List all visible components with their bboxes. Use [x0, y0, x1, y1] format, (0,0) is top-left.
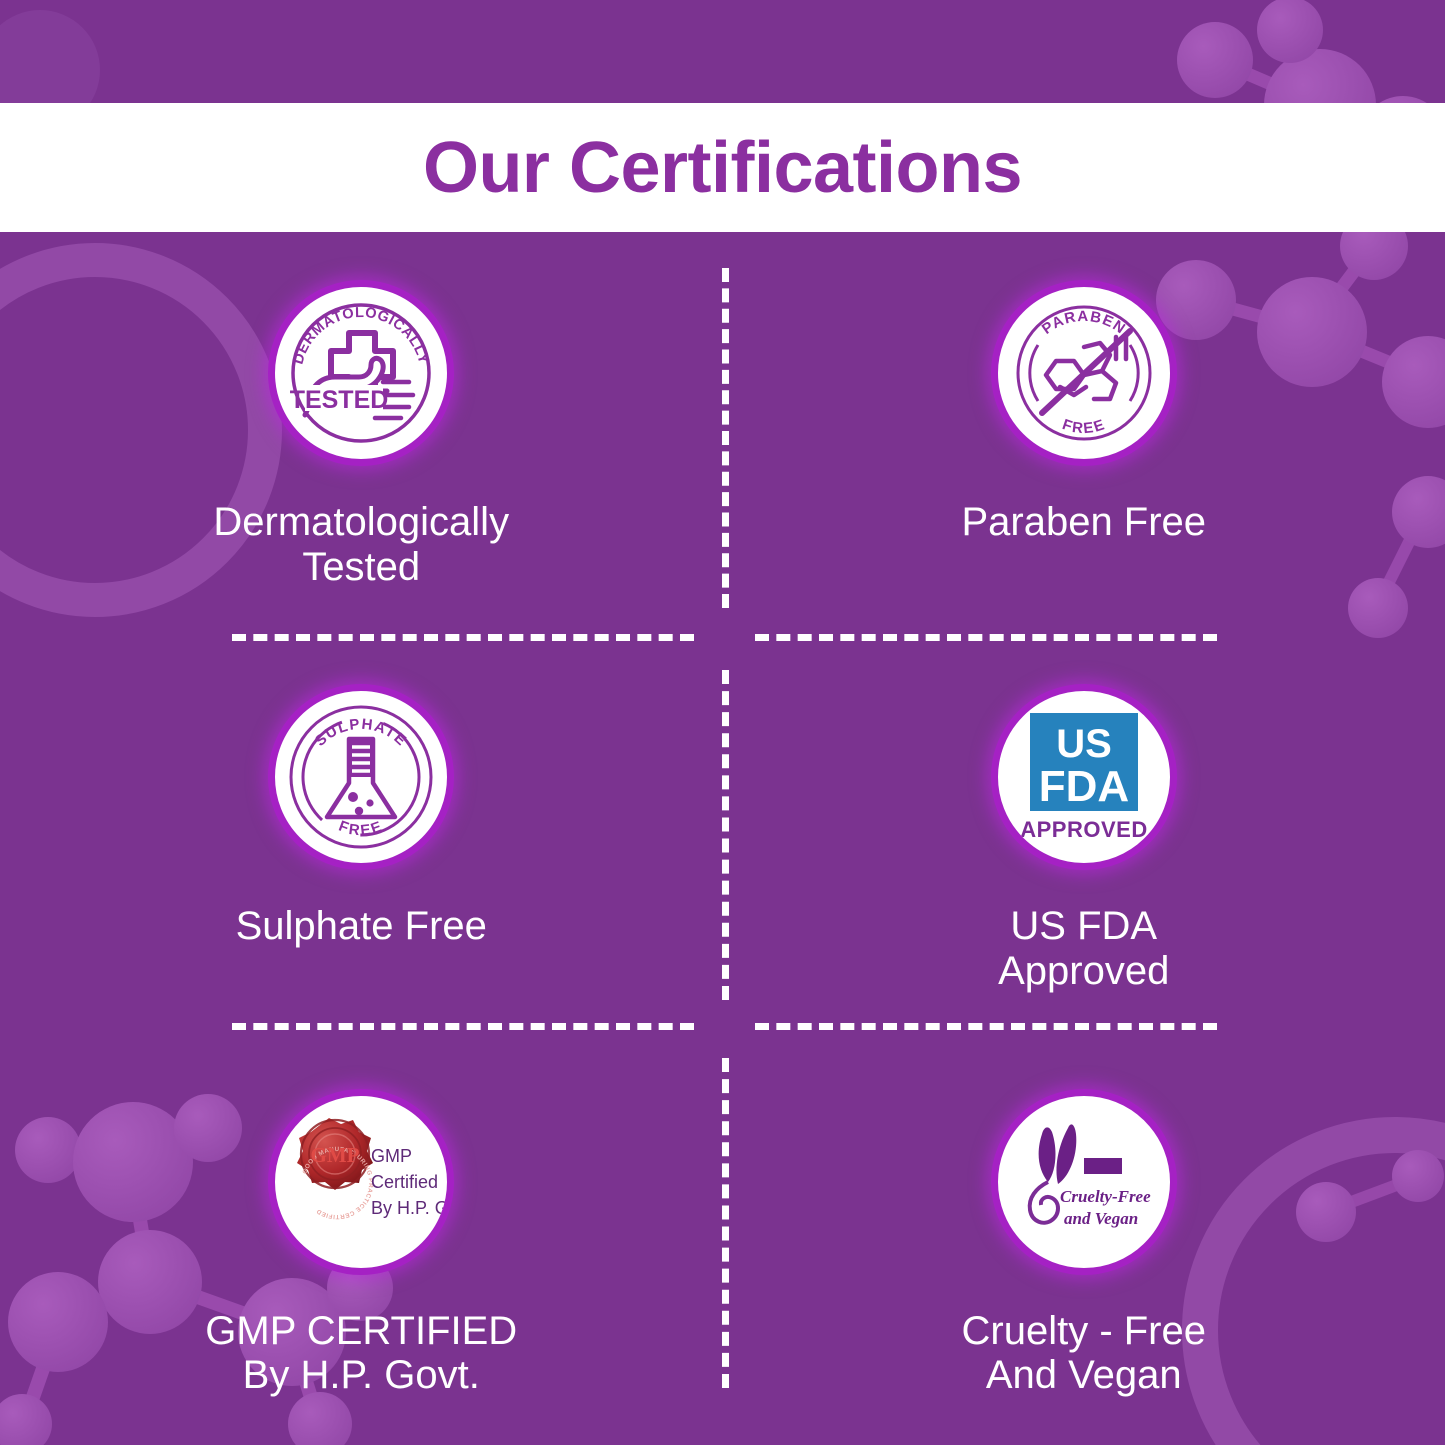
vertical-divider-row-1: [722, 268, 729, 608]
svg-text:APPROVED: APPROVED: [1020, 817, 1147, 842]
svg-text:GMP: GMP: [311, 1143, 360, 1167]
us-fda-approved-icon: US FDA APPROVED: [998, 691, 1170, 863]
dermatologically-tested-badge: DERMATOLOGICALLY TESTED: [268, 280, 454, 466]
certification-card-gmp-certified[interactable]: GOOD MANUFACTURING PRACTICE CERTIFIED GM…: [0, 1041, 723, 1445]
certification-label: Sulphate Free: [236, 904, 487, 949]
gmp-certified-badge: GOOD MANUFACTURING PRACTICE CERTIFIED GM…: [268, 1089, 454, 1275]
paraben-free-icon: PARABEN FREE: [998, 287, 1170, 459]
certification-label: Paraben Free: [961, 500, 1206, 545]
dermatologically-tested-icon: DERMATOLOGICALLY TESTED: [275, 287, 447, 459]
certification-card-sulphate-free[interactable]: SULPHATE FREE: [0, 636, 723, 1040]
paraben-free-badge: PARABEN FREE: [991, 280, 1177, 466]
svg-text:TESTED: TESTED: [290, 386, 389, 414]
certification-card-us-fda-approved[interactable]: US FDA APPROVED US FDA Approved: [723, 636, 1445, 1040]
certification-label: Dermatologically Tested: [213, 500, 509, 590]
us-fda-approved-badge: US FDA APPROVED: [991, 684, 1177, 870]
certification-label: Cruelty - Free And Vegan: [962, 1309, 1207, 1399]
vertical-divider-row-3: [722, 1058, 729, 1388]
certification-card-cruelty-free-and-vegan[interactable]: Cruelty-Free and Vegan Cruelty - Free An…: [723, 1041, 1445, 1445]
horizontal-divider-row-2-left: [232, 1023, 694, 1030]
certification-label: GMP CERTIFIED By H.P. Govt.: [205, 1309, 517, 1399]
svg-text:FREE: FREE: [1060, 416, 1108, 437]
svg-text:By H.P. Govt.: By H.P. Govt.: [371, 1198, 447, 1218]
svg-text:PARABEN: PARABEN: [1039, 308, 1129, 338]
certification-card-dermatologically-tested[interactable]: DERMATOLOGICALLY TESTED Dermatologically…: [0, 232, 723, 636]
svg-text:US: US: [1056, 722, 1112, 766]
cruelty-free-and-vegan-badge: Cruelty-Free and Vegan: [991, 1089, 1177, 1275]
certification-card-paraben-free[interactable]: PARABEN FREE: [723, 232, 1445, 636]
page-title: Our Certifications: [423, 132, 1022, 204]
horizontal-divider-row-2-right: [755, 1023, 1217, 1030]
sulphate-free-badge: SULPHATE FREE: [268, 684, 454, 870]
horizontal-divider-row-1-right: [755, 634, 1217, 641]
svg-text:Certified: Certified: [371, 1172, 438, 1192]
svg-text:and Vegan: and Vegan: [1064, 1209, 1138, 1228]
sulphate-free-icon: SULPHATE FREE: [275, 691, 447, 863]
gmp-certified-seal-icon: GOOD MANUFACTURING PRACTICE CERTIFIED GM…: [275, 1096, 447, 1268]
header-band: Our Certifications: [0, 103, 1445, 232]
svg-text:FDA: FDA: [1039, 762, 1129, 811]
svg-text:Cruelty-Free: Cruelty-Free: [1060, 1187, 1151, 1206]
certification-label: US FDA Approved: [998, 904, 1169, 994]
cruelty-free-bunny-icon: Cruelty-Free and Vegan: [998, 1096, 1170, 1268]
horizontal-divider-row-1-left: [232, 634, 694, 641]
vertical-divider-row-2: [722, 670, 729, 1000]
svg-text:GMP: GMP: [371, 1146, 412, 1166]
